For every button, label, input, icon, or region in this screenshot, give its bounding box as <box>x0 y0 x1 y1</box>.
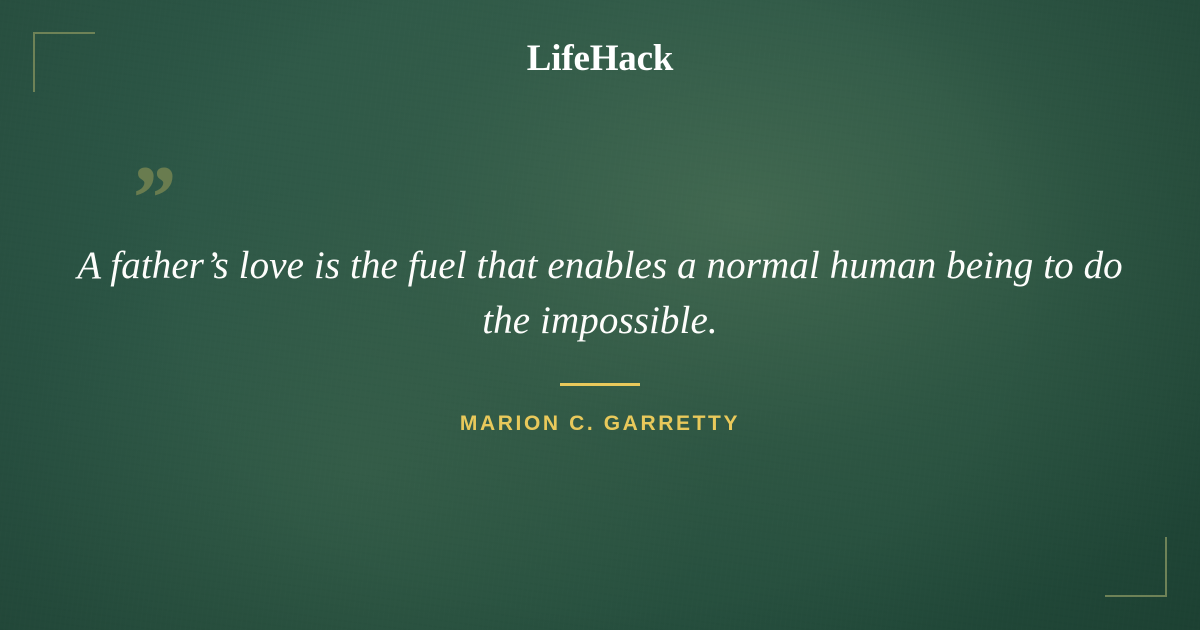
gold-divider <box>560 383 640 386</box>
quote-line-1: A father’s love is the fuel that enables… <box>77 244 1033 287</box>
corner-bracket-horizontal-rule <box>33 32 95 34</box>
quote-text: A father’s love is the fuel that enables… <box>70 238 1130 348</box>
quote-card: LifeHack ” A father’s love is the fuel t… <box>0 0 1200 630</box>
corner-bracket-vertical-rule <box>1165 537 1167 597</box>
quote-author: MARION C. GARRETTY <box>0 411 1200 437</box>
quotation-mark-icon: ” <box>128 152 198 228</box>
corner-bracket-bottom-right-icon <box>1105 537 1167 597</box>
brand-logo: LifeHack <box>0 40 1200 77</box>
corner-bracket-horizontal-rule <box>1105 595 1167 597</box>
